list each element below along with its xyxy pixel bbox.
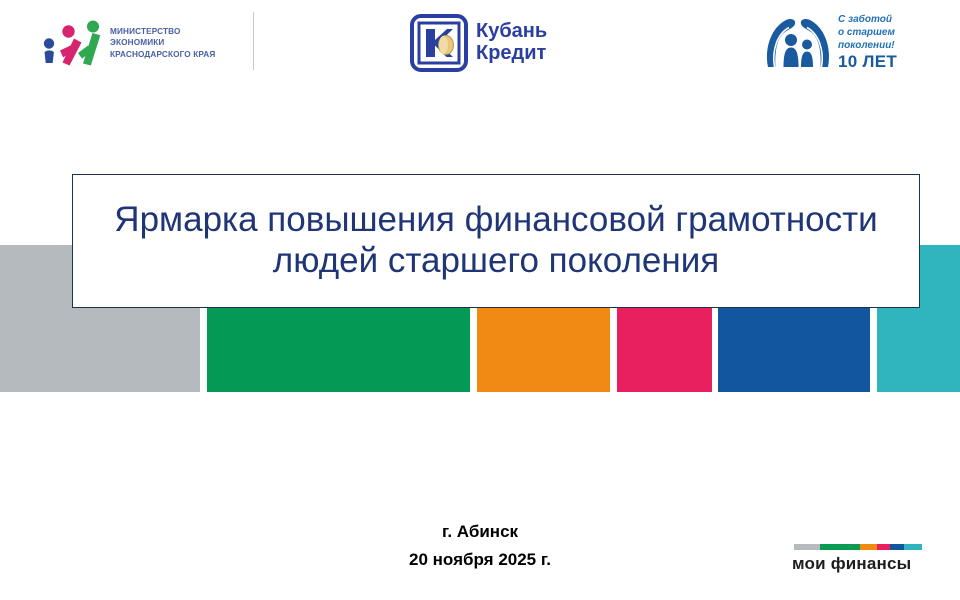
ministry-line-3: КРАСНОДАРСКОГО КРАЯ	[110, 49, 215, 61]
kuban-kredit-text: Кубань Кредит	[476, 21, 547, 64]
ministry-line-1: МИНИСТЕРСТВО	[110, 26, 215, 38]
moi-finansy-label: мои финансы	[792, 555, 928, 572]
kuban-kredit-emblem-icon	[410, 14, 468, 72]
care-anniversary-label: 10 ЛЕТ	[838, 53, 897, 72]
moi-finansy-bar-segment-1	[820, 544, 860, 550]
kuban-line-2: Кредит	[476, 43, 547, 65]
moi-finansy-bar-segment-3	[877, 544, 890, 550]
kuban-kredit-bank-logo: Кубань Кредит	[410, 8, 590, 78]
moi-finansy-bar-segment-2	[860, 544, 878, 550]
care-logo-text: С заботой о старшем поколении! 10 ЛЕТ	[838, 14, 897, 72]
page-title: Ярмарка повышения финансовой грамотности…	[73, 200, 919, 281]
ministry-of-economy-krasnodar-logo: МИНИСТЕРСТВО ЭКОНОМИКИ КРАСНОДАРСКОГО КР…	[38, 12, 258, 74]
moi-finansy-color-bar	[794, 544, 922, 550]
protecting-hands-icon	[762, 13, 834, 73]
care-line-2: о старшем	[838, 27, 897, 40]
logo-header-row: МИНИСТЕРСТВО ЭКОНОМИКИ КРАСНОДАРСКОГО КР…	[0, 0, 960, 90]
footer-place: г. Абинск	[0, 518, 960, 546]
header-divider	[253, 12, 254, 70]
care-line-1: С заботой	[838, 14, 897, 27]
kuban-line-1: Кубань	[476, 21, 547, 43]
moi-finansy-logo: мои финансы	[792, 544, 928, 586]
care-for-older-generation-logo: С заботой о старшем поколении! 10 ЛЕТ	[762, 10, 948, 76]
moi-finansy-bar-segment-5	[904, 544, 922, 550]
moi-finansy-bar-segment-4	[890, 544, 904, 550]
ministry-figures-icon	[38, 17, 104, 69]
ministry-logo-text: МИНИСТЕРСТВО ЭКОНОМИКИ КРАСНОДАРСКОГО КР…	[110, 26, 215, 61]
slide-title-box: Ярмарка повышения финансовой грамотности…	[72, 174, 920, 308]
care-line-3: поколении!	[838, 40, 897, 53]
ministry-line-2: ЭКОНОМИКИ	[110, 37, 215, 49]
moi-finansy-bar-segment-0	[794, 544, 820, 550]
